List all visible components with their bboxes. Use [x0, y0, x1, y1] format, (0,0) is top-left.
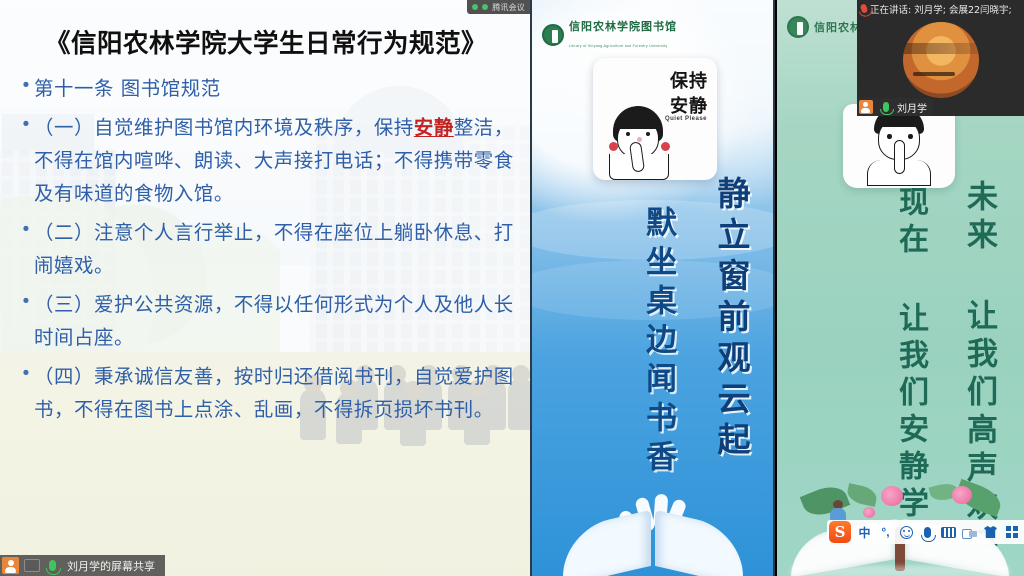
microphone-active-icon [860, 3, 868, 13]
chinese-mode-icon[interactable]: 中 [854, 520, 875, 544]
bullet-dot-icon: • [18, 72, 34, 99]
quiet-please-card: 保持 安静 Quiet Please [593, 58, 717, 180]
list-item: • （四）秉承诚信友善，按时归还借阅书刊，自觉爱护图书，不得在图书上点涂、乱画，… [18, 360, 514, 426]
slide-content: 《信阳农林学院大学生日常行为规范》 • 第十一条 图书馆规范 • （一）自觉维护… [0, 0, 530, 576]
library-logo: 信阳农林学院图书馆 Library of Xinyang Agriculture… [542, 18, 677, 52]
library-emblem-icon [787, 16, 809, 38]
bullet-text: （一）自觉维护图书馆内环境及秩序，保持安静整洁，不得在馆内喧哗、朗读、大声接打电… [34, 111, 514, 210]
bullet-dot-icon: • [18, 288, 34, 315]
highlighted-term: 安静 [414, 116, 454, 139]
person-icon [0, 555, 21, 576]
sogou-ime-toolbar[interactable]: S 中 °, [827, 520, 1024, 544]
bullet-text-before: （一）自觉维护图书馆内环境及秩序，保持 [34, 116, 414, 139]
emoji-icon[interactable] [896, 520, 917, 544]
soft-keyboard-icon[interactable] [938, 520, 959, 544]
shushing-girl-icon [601, 106, 677, 180]
participant-name-label: 刘月学 [897, 100, 927, 115]
library-logo-name-en: Library of Xinyang Agriculture and Fores… [569, 44, 667, 48]
toolbox-icon[interactable] [959, 520, 980, 544]
page-title: 《信阳农林学院大学生日常行为规范》 [18, 30, 514, 58]
screen-share-status-bar[interactable]: 刘月学的屏幕共享 [0, 555, 165, 576]
screen-share-icon [21, 555, 42, 576]
shushing-boy-card [843, 104, 955, 188]
punctuation-mode-icon[interactable]: °, [875, 520, 896, 544]
microphone-icon[interactable] [877, 98, 894, 116]
bullet-text: 第十一条 图书馆规范 [34, 72, 221, 105]
tencent-meeting-indicator[interactable]: 腾讯会议 [467, 0, 530, 14]
list-item: • （三）爱护公共资源，不得以任何形式为个人及他人长时间占座。 [18, 288, 514, 354]
list-item: • 第十一条 图书馆规范 [18, 72, 514, 105]
status-dot-icon [472, 4, 478, 10]
card-line-1: 保持 [670, 67, 708, 93]
poster-blue-panel[interactable]: 信阳农林学院图书馆 Library of Xinyang Agriculture… [530, 0, 775, 576]
bullet-dot-icon: • [18, 111, 34, 138]
voice-input-icon[interactable] [917, 520, 938, 544]
video-participant-tile[interactable]: 正在讲话: 刘月学; 会展22闫晓宇; 刘月学 [857, 0, 1024, 116]
slide-bullet-list: • 第十一条 图书馆规范 • （一）自觉维护图书馆内环境及秩序，保持安静整洁，不… [18, 72, 514, 426]
bullet-text: （四）秉承诚信友善，按时归还借阅书刊，自觉爱护图书，不得在图书上点涂、乱画，不得… [34, 360, 514, 426]
app-name-label: 腾讯会议 [492, 2, 525, 13]
bullet-text: （二）注意个人言行举止，不得在座位上躺卧休息、打闹嬉戏。 [34, 216, 514, 282]
participant-video-feed [903, 22, 979, 98]
shared-slide-panel[interactable]: 《信阳农林学院大学生日常行为规范》 • 第十一条 图书馆规范 • （一）自觉维护… [0, 0, 530, 576]
bullet-text: （三）爱护公共资源，不得以任何形式为个人及他人长时间占座。 [34, 288, 514, 354]
list-item: • （一）自觉维护图书馆内环境及秩序，保持安静整洁，不得在馆内喧哗、朗读、大声接… [18, 111, 514, 210]
more-apps-icon[interactable] [1001, 520, 1022, 544]
status-dot-icon [482, 4, 488, 10]
library-emblem-icon [542, 24, 564, 46]
speaking-banner-label: 正在讲话: 刘月学; 会展22闫晓宇; [870, 2, 1012, 16]
bullet-dot-icon: • [18, 360, 34, 387]
meeting-screen: 《信阳农林学院大学生日常行为规范》 • 第十一条 图书馆规范 • （一）自觉维护… [0, 0, 1024, 576]
library-logo-name: 信阳农林学院图书馆 [569, 20, 677, 33]
microphone-icon[interactable] [42, 555, 63, 576]
list-item: • （二）注意个人言行举止，不得在座位上躺卧休息、打闹嬉戏。 [18, 216, 514, 282]
open-book-icon [563, 480, 743, 576]
participant-name-bar: 刘月学 [857, 98, 933, 116]
screen-share-label: 刘月学的屏幕共享 [63, 558, 165, 574]
poster-verse-left: 默坐桌边闻书香 [636, 206, 681, 479]
bullet-dot-icon: • [18, 216, 34, 243]
skin-icon[interactable] [980, 520, 1001, 544]
speaking-banner: 正在讲话: 刘月学; 会展22闫晓宇; [857, 0, 1024, 17]
person-icon [857, 98, 874, 116]
shushing-boy-icon [863, 108, 935, 186]
sogou-logo-icon[interactable]: S [829, 521, 851, 543]
poster-verse-right: 静立窗前观云起 [707, 176, 755, 463]
